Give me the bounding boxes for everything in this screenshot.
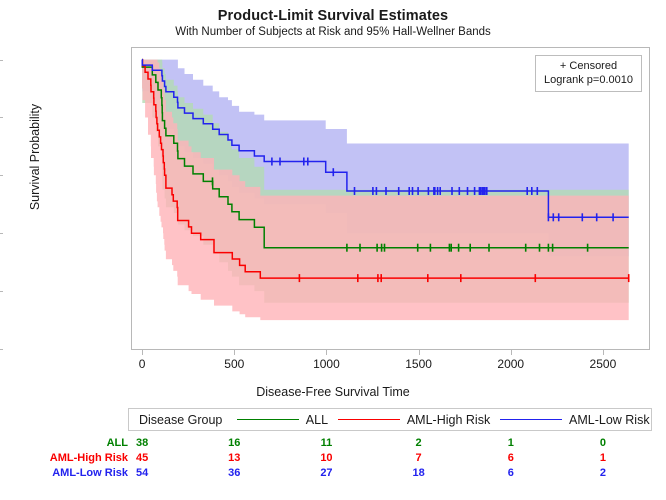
- risk-table-cell: 16: [204, 437, 264, 449]
- x-axis-label: Disease-Free Survival Time: [0, 385, 666, 399]
- legend-line-swatch: [338, 419, 400, 420]
- x-tick-label: 1500: [389, 357, 449, 371]
- risk-table-cell: 38: [112, 437, 172, 449]
- risk-table-row-label: AML-Low Risk: [0, 467, 128, 479]
- risk-table-row: AML-High Risk451310761: [0, 452, 666, 467]
- risk-table-row: ALL381611210: [0, 437, 666, 452]
- survival-curves-svg: [132, 48, 649, 349]
- risk-table-cell: 7: [389, 452, 449, 464]
- risk-table-cell: 1: [481, 437, 541, 449]
- group-legend: Disease Group ALLAML-High RiskAML-Low Ri…: [128, 408, 652, 431]
- x-tick-label: 2500: [573, 357, 633, 371]
- legend-entry-all[interactable]: ALL: [230, 413, 328, 427]
- risk-table-cell: 18: [389, 467, 449, 479]
- legend-entry-aml-low-risk[interactable]: AML-Low Risk: [493, 413, 650, 427]
- y-tick-mark: [0, 175, 3, 176]
- legend-entry-label: AML-High Risk: [407, 413, 490, 427]
- page-title: Product-Limit Survival Estimates: [0, 8, 666, 24]
- risk-table-cell: 11: [296, 437, 356, 449]
- y-tick-mark: [0, 117, 3, 118]
- risk-table-cell: 54: [112, 467, 172, 479]
- plot-area: + Censored Logrank p=0.0010: [131, 47, 650, 350]
- x-tick-mark: [419, 350, 420, 355]
- logrank-pvalue-label: Logrank p=0.0010: [544, 73, 633, 87]
- risk-table-row: AML-Low Risk5436271862: [0, 467, 666, 482]
- risk-table-cell: 36: [204, 467, 264, 479]
- legend-line-swatch: [500, 419, 562, 420]
- y-tick-mark: [0, 291, 3, 292]
- legend-entry-list: ALLAML-High RiskAML-Low Risk: [228, 413, 651, 427]
- survival-plot-page: Product-Limit Survival Estimates With Nu…: [0, 0, 666, 500]
- x-tick-label: 0: [112, 357, 172, 371]
- legend-entry-label: AML-Low Risk: [569, 413, 650, 427]
- risk-table-cell: 6: [481, 467, 541, 479]
- legend-title: Disease Group: [129, 413, 228, 427]
- x-tick-label: 500: [204, 357, 264, 371]
- risk-table-cell: 0: [573, 437, 633, 449]
- risk-table-cell: 2: [389, 437, 449, 449]
- risk-table-cell: 45: [112, 452, 172, 464]
- stats-annotation-box: + Censored Logrank p=0.0010: [535, 55, 642, 92]
- censored-legend-label: + Censored: [544, 59, 633, 73]
- x-tick-mark: [326, 350, 327, 355]
- legend-line-swatch: [237, 419, 299, 420]
- risk-table-row-label: AML-High Risk: [0, 452, 128, 464]
- risk-table-row-label: ALL: [0, 437, 128, 449]
- x-tick-mark: [142, 350, 143, 355]
- x-tick-mark: [603, 350, 604, 355]
- y-tick-mark: [0, 60, 3, 61]
- risk-table-cell: 2: [573, 467, 633, 479]
- risk-table-cell: 1: [573, 452, 633, 464]
- x-tick-mark: [234, 350, 235, 355]
- x-tick-label: 2000: [481, 357, 541, 371]
- y-tick-mark: [0, 349, 3, 350]
- y-axis-label: Survival Probability: [28, 47, 42, 267]
- risk-table-cell: 10: [296, 452, 356, 464]
- risk-table-cell: 27: [296, 467, 356, 479]
- x-tick-label: 1000: [296, 357, 356, 371]
- risk-table-cell: 6: [481, 452, 541, 464]
- y-tick-mark: [0, 233, 3, 234]
- risk-table-cell: 13: [204, 452, 264, 464]
- x-tick-mark: [511, 350, 512, 355]
- legend-entry-aml-high-risk[interactable]: AML-High Risk: [331, 413, 490, 427]
- legend-entry-label: ALL: [306, 413, 328, 427]
- page-subtitle: With Number of Subjects at Risk and 95% …: [0, 26, 666, 38]
- number-at-risk-table: ALL381611210AML-High Risk451310761AML-Lo…: [0, 437, 666, 482]
